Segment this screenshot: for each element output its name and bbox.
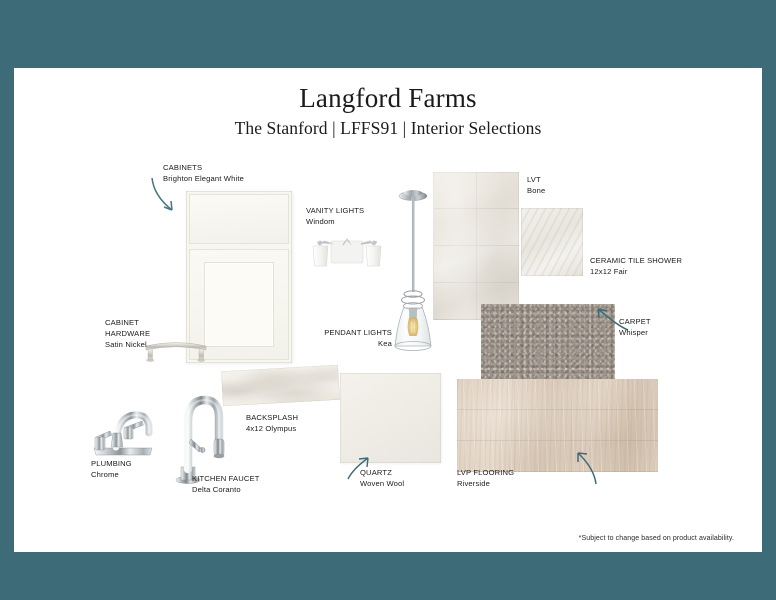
swatch-ceramic-tile-shower: [521, 208, 583, 276]
swatch-quartz: [340, 373, 441, 463]
product-image-vanity-light: [309, 233, 385, 275]
footnote-disclaimer: *Subject to change based on product avai…: [579, 535, 734, 542]
product-image-bar-pull: [140, 341, 212, 363]
border-top: [0, 0, 776, 68]
label-vanity-lights: VANITY LIGHTS Windom: [306, 206, 364, 228]
swatch-lvt: [433, 172, 519, 320]
label-pendant-lights: PENDANT LIGHTS Kea: [316, 328, 392, 350]
swatch-carpet: [481, 304, 615, 380]
label-cabinets: CABINETS Brighton Elegant White: [163, 163, 244, 185]
swatch-backsplash: [221, 365, 340, 406]
label-carpet: CARPET Whisper: [619, 317, 651, 339]
cabinet-door-panel: [204, 262, 274, 347]
label-plumbing: PLUMBING Chrome: [91, 459, 132, 481]
title-block: Langford Farms The Stanford | LFFS91 | I…: [0, 84, 776, 139]
label-cabinet-hardware: CABINET HARDWARE Satin Nickel: [105, 318, 150, 350]
page-subtitle: The Stanford | LFFS91 | Interior Selecti…: [0, 118, 776, 139]
product-image-cabinet-door: [186, 191, 292, 363]
cabinet-drawer-front: [189, 194, 289, 244]
interior-selections-board: Langford Farms The Stanford | LFFS91 | I…: [0, 0, 776, 600]
label-lvt: LVT Bone: [527, 175, 545, 197]
label-ceramic-tile-shower: CERAMIC TILE SHOWER 12x12 Fair: [590, 256, 682, 278]
label-kitchen-faucet: KITCHEN FAUCET Delta Coranto: [192, 474, 260, 496]
product-image-bath-faucet: [86, 393, 160, 459]
label-quartz: QUARTZ Woven Wool: [360, 468, 404, 490]
label-backsplash: BACKSPLASH 4x12 Olympus: [246, 413, 298, 435]
border-bottom: [0, 552, 776, 600]
swatch-lvp-flooring: [457, 379, 658, 472]
label-lvp-flooring: LVP FLOORING Riverside: [457, 468, 514, 490]
product-image-kitchen-faucet: [168, 387, 226, 485]
product-image-pendant-light: [390, 186, 436, 364]
page-title: Langford Farms: [0, 84, 776, 114]
